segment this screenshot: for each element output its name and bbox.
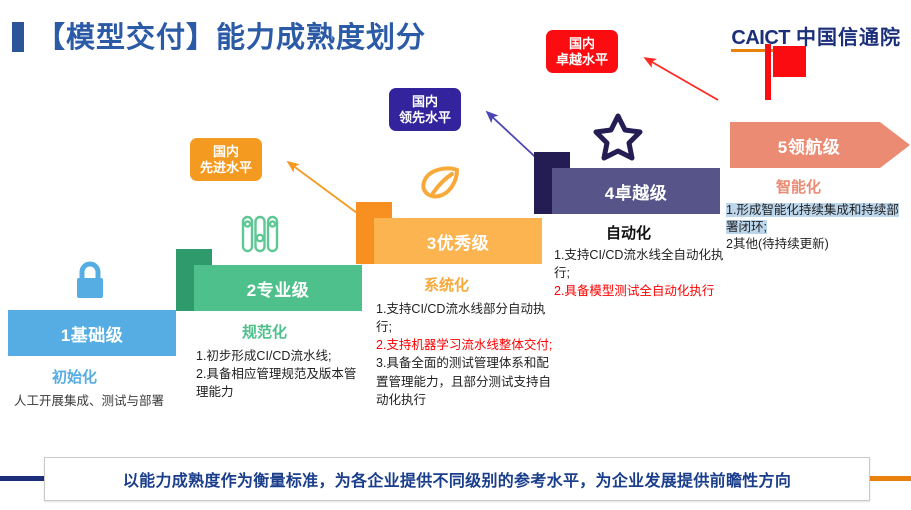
- badge-line-2: 先进水平: [200, 160, 252, 176]
- step-side-face: [176, 249, 194, 311]
- summary-banner: 以能力成熟度作为衡量标准，为各企业提供不同级别的参考水平，为企业发展提供前瞻性方…: [44, 457, 870, 501]
- step-body-line-1: 1.支持CI/CD流水线全自动化执行;: [554, 246, 734, 282]
- step-body: 1.支持CI/CD流水线部分自动执行; 2.支持机器学习流水线整体交付; 3.具…: [376, 300, 556, 409]
- caict-logo: CAICT 中国信通院: [731, 28, 901, 52]
- step-side-face: [356, 202, 374, 264]
- step-subtitle: 初始化: [52, 366, 97, 387]
- step-title: 3优秀级: [427, 229, 489, 254]
- leaf-icon: [418, 164, 462, 209]
- badge-line-2: 领先水平: [399, 110, 451, 126]
- step-body-line-1-text: 1.形成智能化持续集成和持续部署闭环;: [726, 203, 899, 234]
- title-accent-bar: [12, 22, 24, 52]
- step-bar-level-5: 5领航级: [730, 122, 910, 168]
- step-title: 4卓越级: [605, 179, 667, 204]
- step-title: 2专业级: [247, 276, 309, 301]
- step-side-face: [534, 152, 552, 214]
- badge-line-1: 国内: [200, 144, 252, 160]
- badge-line-2: 卓越水平: [556, 52, 608, 68]
- step-bar-level-2: 2专业级: [194, 265, 362, 311]
- badge-line-1: 国内: [556, 36, 608, 52]
- step-body: 人工开展集成、测试与部署: [14, 392, 182, 410]
- step-body: 1.形成智能化持续集成和持续部署闭环; 2其他(待持续更新): [726, 202, 902, 253]
- sliders-icon: [238, 212, 282, 261]
- step-subtitle: 系统化: [424, 274, 469, 295]
- step-body-line-2: 2.支持机器学习流水线整体交付;: [376, 336, 556, 354]
- slide-canvas: 【模型交付】能力成熟度划分 CAICT 中国信通院 国内 先进水平 国内 领先水…: [0, 0, 911, 510]
- step-body-line-1: 1.形成智能化持续集成和持续部署闭环;: [726, 202, 902, 236]
- badge-line-1: 国内: [399, 94, 451, 110]
- star-icon: [592, 112, 644, 167]
- step-bar-level-3: 3优秀级: [374, 218, 542, 264]
- step-title: 1基础级: [61, 321, 123, 346]
- summary-banner-text: 以能力成熟度作为衡量标准，为各企业提供不同级别的参考水平，为企业发展提供前瞻性方…: [123, 467, 791, 491]
- step-bevel: [730, 106, 910, 122]
- badge-national-advanced: 国内 先进水平: [190, 138, 262, 181]
- step-side-face: [712, 106, 730, 168]
- page-title: 【模型交付】能力成熟度划分: [36, 14, 426, 56]
- step-body-line-1: 1.初步形成CI/CD流水线;: [196, 347, 368, 365]
- step-body-line-2: 2.具备相应管理规范及版本管理能力: [196, 365, 368, 401]
- step-body-line-1: 1.支持CI/CD流水线部分自动执行;: [376, 300, 556, 336]
- logo-name-text: 中国信通院: [796, 28, 901, 48]
- step-subtitle: 规范化: [242, 321, 287, 342]
- step-bar-level-1: 1基础级: [8, 310, 176, 356]
- step-body-line-2: 2.具备模型测试全自动化执行: [554, 282, 734, 300]
- step-bar-level-4: 4卓越级: [552, 168, 720, 214]
- step-body-line-2: 2其他(待持续更新): [726, 236, 902, 253]
- step-body-line-3: 3.具备全面的测试管理体系和配置管理能力，且部分测试支持自动化执行: [376, 354, 556, 408]
- step-body: 1.支持CI/CD流水线全自动化执行; 2.具备模型测试全自动化执行: [554, 246, 734, 300]
- step-body: 1.初步形成CI/CD流水线; 2.具备相应管理规范及版本管理能力: [196, 347, 368, 401]
- step-subtitle: 自动化: [606, 222, 651, 243]
- step-title: 5领航级: [778, 133, 840, 158]
- flag-icon: [762, 42, 808, 105]
- step-subtitle: 智能化: [776, 176, 821, 197]
- badge-national-leading: 国内 领先水平: [389, 88, 461, 131]
- lock-icon: [70, 258, 110, 309]
- badge-national-excellent: 国内 卓越水平: [546, 30, 618, 73]
